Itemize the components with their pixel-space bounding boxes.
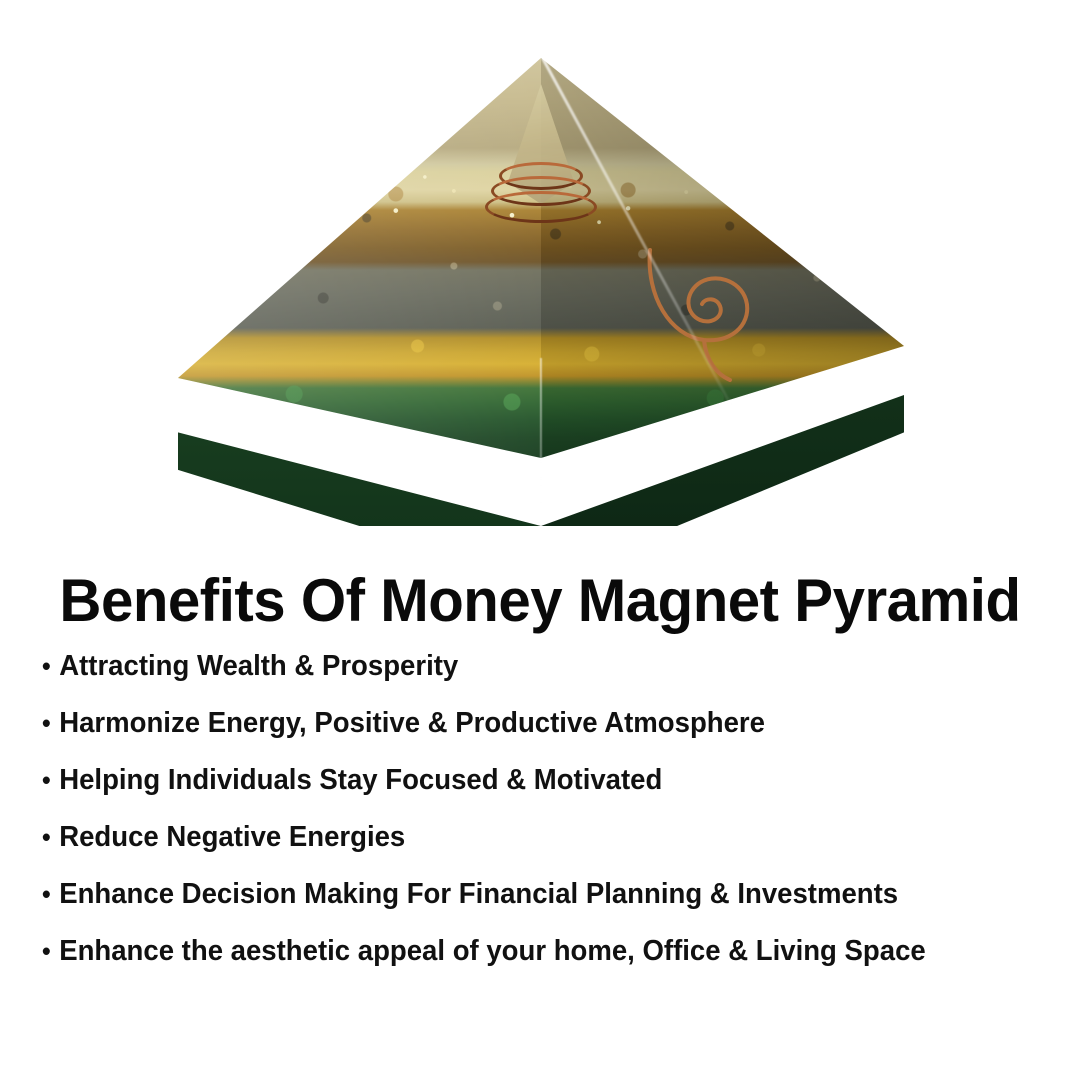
- list-item-label: Attracting Wealth & Prosperity: [59, 638, 458, 695]
- list-item: • Reduce Negative Energies: [42, 809, 1002, 866]
- list-item-label: Enhance Decision Making For Financial Pl…: [59, 866, 898, 923]
- bullet-icon: •: [42, 695, 51, 752]
- bullet-icon: •: [42, 752, 51, 809]
- list-item: • Enhance Decision Making For Financial …: [42, 866, 1002, 923]
- benefits-list: • Attracting Wealth & Prosperity • Harmo…: [42, 638, 1052, 980]
- list-item-label: Helping Individuals Stay Focused & Motiv…: [59, 752, 662, 809]
- pyramid-front-seam: [540, 358, 542, 526]
- list-item: • Harmonize Energy, Positive & Productiv…: [42, 695, 1002, 752]
- copper-coil-wrap-icon: [485, 191, 597, 223]
- list-item: • Enhance the aesthetic appeal of your h…: [42, 923, 1002, 980]
- orgonite-pyramid: [178, 58, 904, 526]
- list-item: • Helping Individuals Stay Focused & Mot…: [42, 752, 1002, 809]
- list-item: • Attracting Wealth & Prosperity: [42, 638, 1002, 695]
- page-title: Benefits Of Money Magnet Pyramid: [16, 568, 1064, 634]
- bullet-icon: •: [42, 866, 51, 923]
- bullet-icon: •: [42, 638, 51, 695]
- bullet-icon: •: [42, 809, 51, 866]
- list-item-label: Enhance the aesthetic appeal of your hom…: [59, 923, 926, 980]
- list-item-label: Reduce Negative Energies: [59, 809, 405, 866]
- bullet-icon: •: [42, 923, 51, 980]
- list-item-label: Harmonize Energy, Positive & Productive …: [59, 695, 765, 752]
- product-image: [0, 0, 1080, 528]
